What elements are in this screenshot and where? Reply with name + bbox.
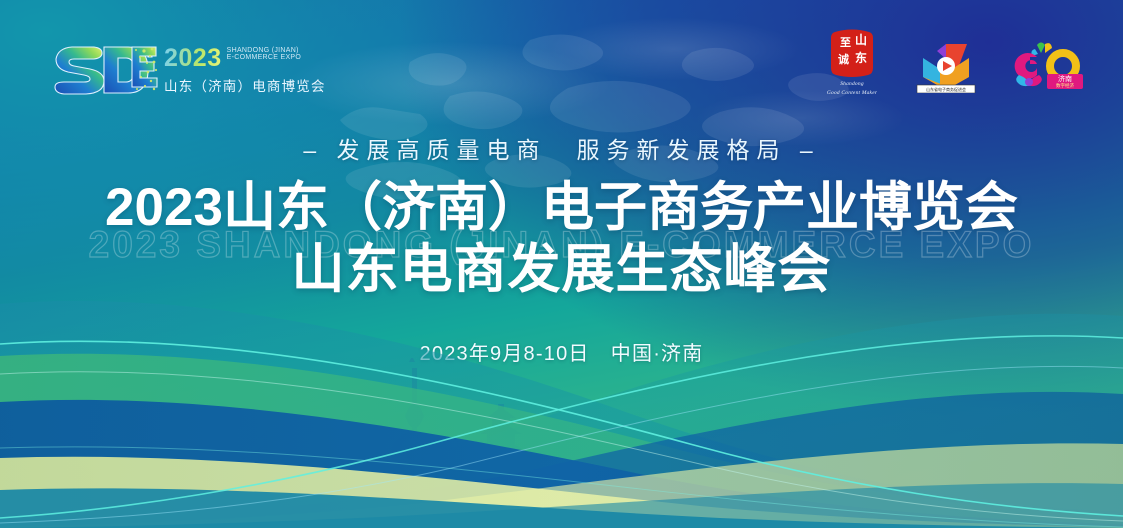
red-seal-icon: 至 山 诚 东: [825, 26, 879, 78]
play-chevron-icon: 山东省电子商务促进会: [915, 41, 977, 93]
logo-english-line2: E-COMMERCE EXPO: [227, 54, 302, 62]
sde-logo-text: 2023 SHANDONG (JINAN) E-COMMERCE EXPO 山东…: [164, 41, 326, 99]
jinan-skyline-silhouette: [0, 358, 1123, 528]
svg-text:济南: 济南: [1058, 74, 1072, 83]
event-date-location: 2023年9月8-10日 中国·济南: [0, 337, 1123, 366]
svg-text:诚: 诚: [838, 52, 849, 66]
partner-logo-ecommerce-association: 山东省电子商务促进会 山东省电子商务促进会: [915, 41, 977, 96]
logo-chinese-name: 山东（济南）电商博览会: [164, 75, 326, 95]
event-slogan: – 发展高质量电商 服务新发展格局 –: [0, 131, 1123, 165]
partner-logo-go-jinan: 济南 数字经济 济南: [1013, 41, 1087, 96]
svg-text:山: 山: [855, 32, 867, 47]
logo-english-line1: SHANDONG (JINAN): [227, 47, 302, 55]
partner-logo-group: 至 山 诚 东 Shandong Good Content Maker: [825, 26, 1087, 96]
banner-header: 2023 SHANDONG (JINAN) E-COMMERCE EXPO 山东…: [0, 0, 1123, 118]
partner-caption-line2: Good Content Maker: [827, 90, 877, 96]
go-logo-icon: 济南 数字经济: [1013, 41, 1087, 93]
svg-text:东: 东: [855, 50, 867, 65]
event-title-line2: 山东电商发展生态峰会: [105, 242, 1018, 298]
sde-monogram-icon: [48, 39, 160, 101]
logo-year: 2023: [164, 46, 222, 71]
partner-logo-shandong-seal: 至 山 诚 东 Shandong Good Content Maker: [825, 26, 879, 96]
sde-event-logo: 2023 SHANDONG (JINAN) E-COMMERCE EXPO 山东…: [48, 34, 288, 106]
event-title-line1: 2023山东（济南）电子商务产业博览会: [105, 180, 1018, 236]
partner-caption-line1: Shandong: [840, 81, 864, 87]
svg-text:山东省电子商务促进会: 山东省电子商务促进会: [926, 86, 966, 92]
wave-ribbons: [0, 298, 1123, 528]
svg-text:数字经济: 数字经济: [1056, 82, 1074, 89]
event-banner: 2023 SHANDONG (JINAN) E-COMMERCE EXPO 山东…: [0, 0, 1123, 528]
svg-text:至: 至: [840, 36, 851, 49]
event-title-block: 2023山东（济南）电子商务产业博览会 2023 SHANDONG (JINAN…: [0, 180, 1123, 298]
logo-english: SHANDONG (JINAN) E-COMMERCE EXPO: [227, 46, 302, 63]
